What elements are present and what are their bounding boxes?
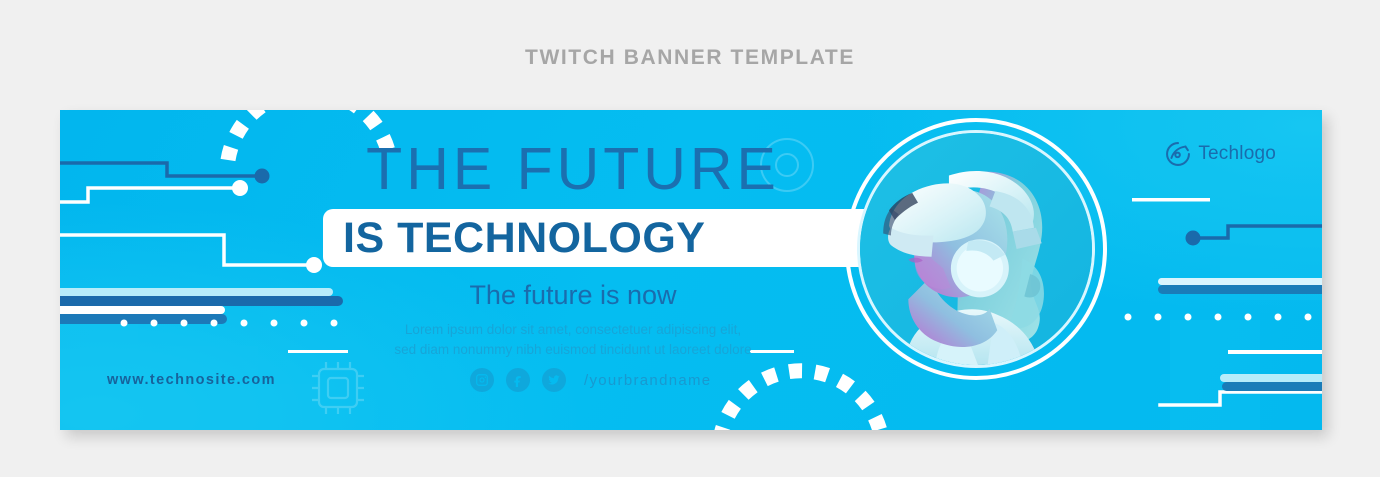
instagram-icon[interactable] [470,368,494,392]
website-url: www.technosite.com [107,372,276,388]
dotted-line-left [121,320,338,327]
facebook-icon[interactable] [506,368,530,392]
twitter-icon[interactable] [542,368,566,392]
subheadline: The future is now [328,280,818,311]
techlogo-mark-icon [1164,140,1192,168]
circuit-trace-right [1132,198,1322,405]
page-root: TWITCH BANNER TEMPLATE [0,0,1380,477]
cpu-chip-icon [312,362,364,414]
headline-bold: IS TECHNOLOGY [323,209,823,267]
photo-ring-inner [857,130,1095,368]
brand-handle: /yourbrandname [584,372,711,389]
bar-stack-left [60,288,343,324]
hero-photo [845,118,1107,380]
vr-headset-photo [860,133,1092,365]
social-links: /yourbrandname [470,368,711,392]
body-line-2: sed diam nonummy nibh euismod tincidunt … [313,340,833,360]
circuit-trace-left [60,163,322,273]
bar-stack-right [1158,278,1322,391]
page-title: TWITCH BANNER TEMPLATE [0,46,1380,70]
body-line-1: Lorem ipsum dolor sit amet, consectetuer… [313,320,833,340]
headline-light: THE FUTURE [328,140,818,199]
twitch-banner: THE FUTURE IS TECHNOLOGY The future is n… [60,110,1322,430]
dotted-line-right [1125,314,1312,321]
logo[interactable]: Techlogo [1164,140,1276,168]
logo-text: Techlogo [1198,143,1276,165]
body-copy: Lorem ipsum dolor sit amet, consectetuer… [313,320,833,361]
